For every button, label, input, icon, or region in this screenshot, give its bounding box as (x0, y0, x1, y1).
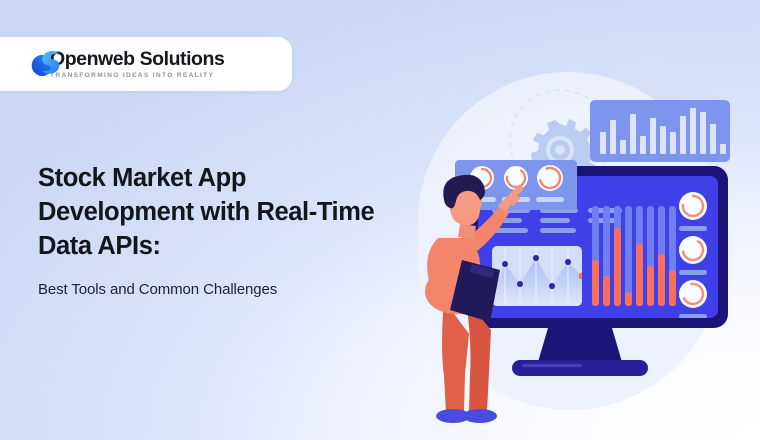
side-gauge-list (679, 192, 707, 319)
brand-tagline: TRANSFORMING IDEAS INTO REALITY (50, 72, 224, 79)
page-title: Stock Market App Development with Real-T… (38, 162, 388, 264)
hero-banner: Openweb Solutions TRANSFORMING IDEAS INT… (0, 0, 760, 440)
page-subtitle: Best Tools and Common Challenges (38, 281, 388, 298)
hero-copy: Stock Market App Development with Real-T… (38, 162, 388, 298)
screen-area-chart (492, 246, 585, 306)
brand-logo-card[interactable]: Openweb Solutions TRANSFORMING IDEAS INT… (0, 37, 292, 91)
openweb-swoosh-logo-icon (30, 49, 62, 79)
floating-bar-card (590, 100, 730, 162)
stock-market-dashboard-illustration (400, 78, 760, 440)
brand-name: Openweb Solutions (50, 49, 224, 70)
monitor-base (512, 360, 648, 376)
monitor-stand (538, 328, 622, 362)
